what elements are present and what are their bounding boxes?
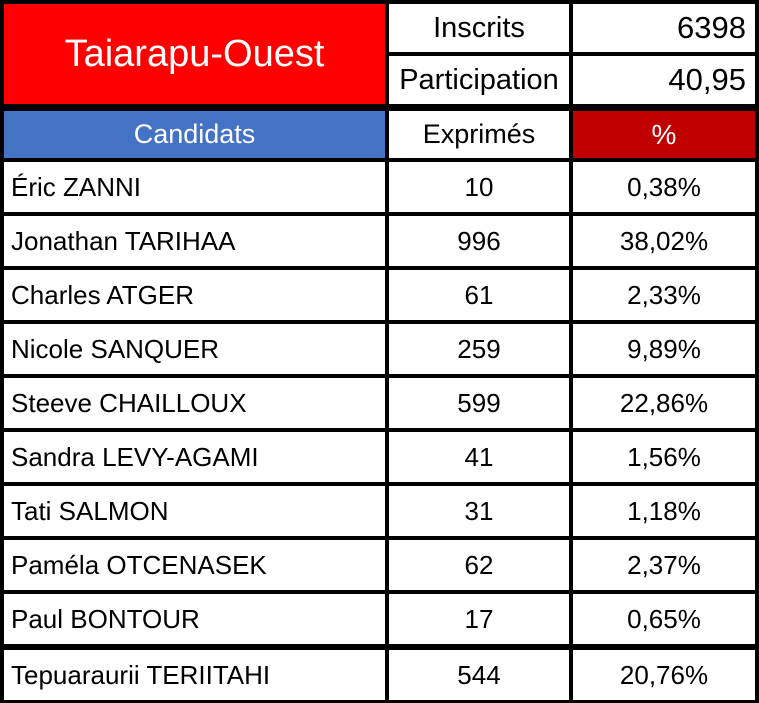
stat-value-0: 6398: [573, 4, 755, 52]
candidate-votes: 996: [389, 216, 569, 266]
candidate-name: Sandra LEVY-AGAMI: [4, 432, 385, 482]
candidate-votes: 41: [389, 432, 569, 482]
candidate-name: Éric ZANNI: [4, 162, 385, 212]
stat-label-1: Participation: [389, 56, 569, 104]
candidate-votes: 17: [389, 594, 569, 644]
column-header-exprimes: Exprimés: [389, 111, 569, 158]
commune-title: Taiarapu-Ouest: [4, 4, 385, 104]
candidate-percent: 0,65%: [573, 594, 755, 644]
stat-label-0: Inscrits: [389, 4, 569, 52]
candidate-percent: 38,02%: [573, 216, 755, 266]
candidate-percent: 20,76%: [573, 650, 755, 700]
stat-value-1: 40,95: [573, 56, 755, 104]
candidate-percent: 1,18%: [573, 486, 755, 536]
candidate-votes: 62: [389, 540, 569, 590]
candidate-name: Tati SALMON: [4, 486, 385, 536]
candidate-name: Paméla OTCENASEK: [4, 540, 385, 590]
candidate-percent: 22,86%: [573, 378, 755, 428]
candidate-votes: 31: [389, 486, 569, 536]
candidate-name: Steeve CHAILLOUX: [4, 378, 385, 428]
candidate-name: Paul BONTOUR: [4, 594, 385, 644]
candidate-votes: 599: [389, 378, 569, 428]
election-results-table: Taiarapu-OuestInscrits6398Participation4…: [0, 0, 759, 703]
candidate-name: Charles ATGER: [4, 270, 385, 320]
candidate-votes: 10: [389, 162, 569, 212]
candidate-votes: 259: [389, 324, 569, 374]
candidate-name: Jonathan TARIHAA: [4, 216, 385, 266]
candidate-percent: 2,37%: [573, 540, 755, 590]
candidate-percent: 9,89%: [573, 324, 755, 374]
candidate-name: Tepuaraurii TERIITAHI: [4, 650, 385, 700]
candidate-percent: 0,38%: [573, 162, 755, 212]
column-header-candidats: Candidats: [4, 111, 385, 158]
candidate-votes: 544: [389, 650, 569, 700]
candidate-name: Nicole SANQUER: [4, 324, 385, 374]
candidate-percent: 1,56%: [573, 432, 755, 482]
candidate-votes: 61: [389, 270, 569, 320]
candidate-percent: 2,33%: [573, 270, 755, 320]
column-header-pourcent: %: [573, 111, 755, 158]
